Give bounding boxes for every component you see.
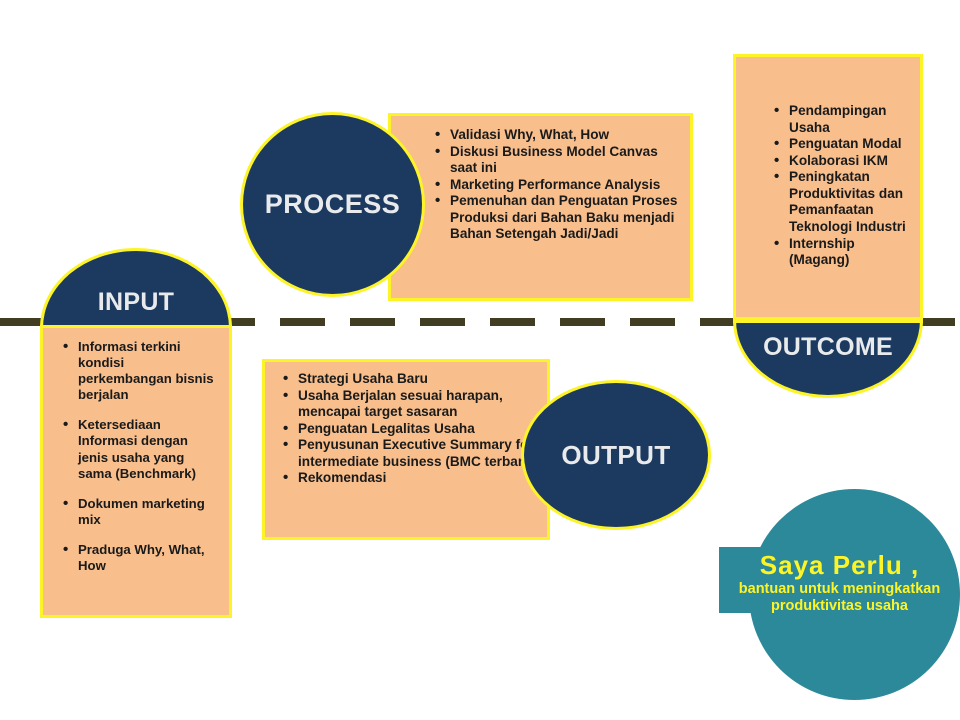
list-item: Penguatan Legalitas Usaha <box>281 421 537 438</box>
list-item: Penguatan Modal <box>772 136 912 153</box>
callout-headline: Saya Perlu , <box>719 551 960 581</box>
outcome-label: OUTCOME <box>763 333 893 362</box>
list-item: Ketersediaan Informasi dengan jenis usah… <box>61 417 221 481</box>
process-stage-badge: PROCESS <box>240 112 425 297</box>
list-item: Peningkatan Produktivitas dan Pemanfaata… <box>772 169 912 235</box>
list-item: Praduga Why, What, How <box>61 542 221 574</box>
process-label: PROCESS <box>265 189 401 220</box>
list-item: Dokumen marketing mix <box>61 496 221 528</box>
list-item: Usaha Berjalan sesuai harapan, mencapai … <box>281 388 537 421</box>
list-item: Marketing Performance Analysis <box>433 177 680 194</box>
list-item: Informasi terkini kondisi perkembangan b… <box>61 339 221 403</box>
callout-subline: bantuan untuk meningkatkan produktivitas… <box>719 581 960 615</box>
list-item: Pemenuhan dan Penguatan Proses Produksi … <box>433 193 680 243</box>
output-stage-badge: OUTPUT <box>521 380 711 530</box>
input-content-panel: Informasi terkini kondisi perkembangan b… <box>40 325 232 618</box>
output-label: OUTPUT <box>561 440 670 471</box>
list-item: Internship (Magang) <box>772 236 912 269</box>
outcome-content-panel: Pendampingan Usaha Penguatan Modal Kolab… <box>733 54 923 320</box>
outcome-item-list: Pendampingan Usaha Penguatan Modal Kolab… <box>772 103 912 269</box>
list-item: Validasi Why, What, How <box>433 127 680 144</box>
list-item: Rekomendasi <box>281 470 537 487</box>
list-item: Pendampingan Usaha <box>772 103 912 136</box>
outcome-stage-badge: OUTCOME <box>733 320 923 398</box>
diagram-canvas: Validasi Why, What, How Diskusi Business… <box>0 0 960 720</box>
list-item: Penyusunan Executive Summary for interme… <box>281 437 537 470</box>
output-item-list: Strategi Usaha Baru Usaha Berjalan sesua… <box>281 371 537 487</box>
list-item: Diskusi Business Model Canvas saat ini <box>433 144 680 177</box>
list-item: Kolaborasi IKM <box>772 153 912 170</box>
input-stage-badge: INPUT <box>40 248 232 328</box>
list-item: Strategi Usaha Baru <box>281 371 537 388</box>
process-content-panel: Validasi Why, What, How Diskusi Business… <box>388 113 693 301</box>
input-item-list: Informasi terkini kondisi perkembangan b… <box>61 339 221 574</box>
process-item-list: Validasi Why, What, How Diskusi Business… <box>433 127 680 243</box>
input-label: INPUT <box>98 288 175 317</box>
output-content-panel: Strategi Usaha Baru Usaha Berjalan sesua… <box>262 359 550 540</box>
callout-text-block: Saya Perlu , bantuan untuk meningkatkan … <box>719 551 960 615</box>
